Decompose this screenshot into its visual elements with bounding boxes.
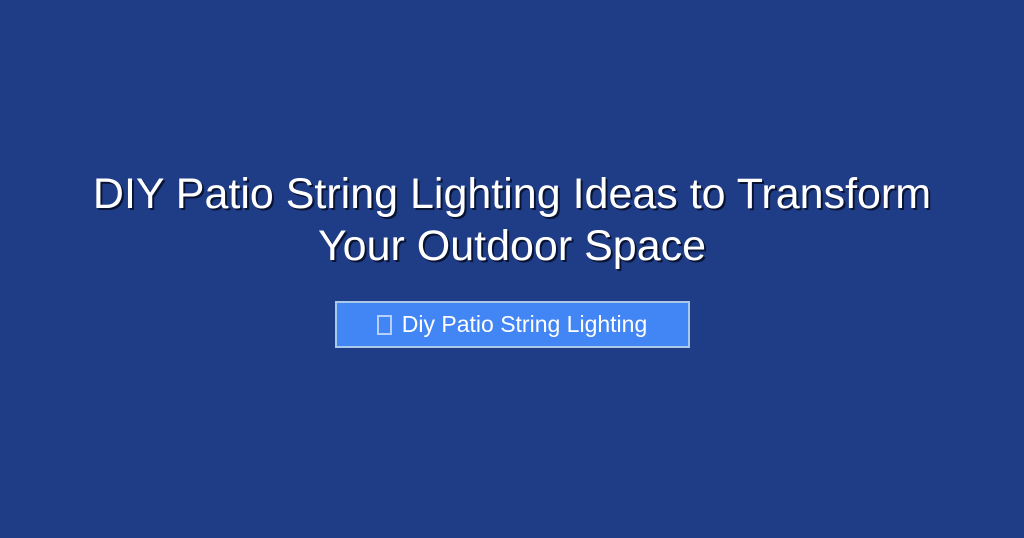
cta-container: Diy Patio String Lighting: [0, 301, 1024, 348]
hero-section: DIY Patio String Lighting Ideas to Trans…: [0, 0, 1024, 538]
cta-button-label: Diy Patio String Lighting: [402, 313, 647, 336]
diy-patio-string-lighting-button[interactable]: Diy Patio String Lighting: [335, 301, 690, 348]
missing-glyph-box-icon: [377, 315, 392, 335]
page-title: DIY Patio String Lighting Ideas to Trans…: [57, 168, 967, 272]
page-root: DIY Patio String Lighting Ideas to Trans…: [0, 0, 1024, 538]
